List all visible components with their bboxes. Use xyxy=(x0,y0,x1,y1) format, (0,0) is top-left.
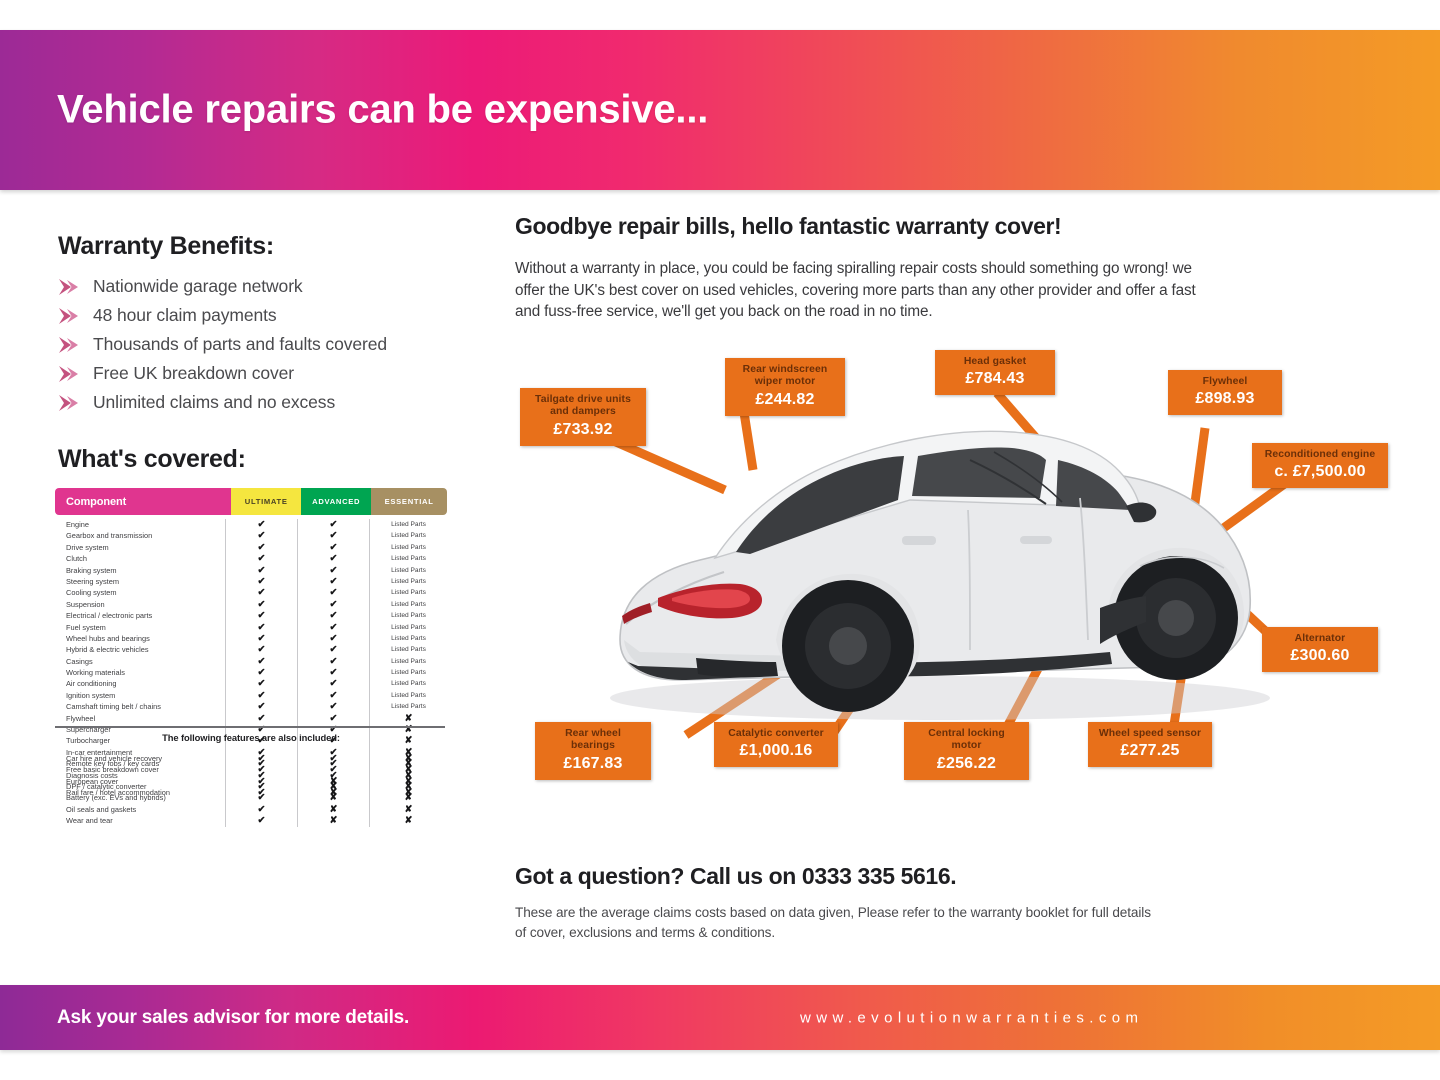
listed-parts-label: Listed Parts xyxy=(370,667,447,678)
warranty-benefits-title: Warranty Benefits: xyxy=(58,232,274,261)
table-row-label: Wear and tear xyxy=(66,815,225,826)
footer-website[interactable]: www.evolutionwarranties.com xyxy=(800,1009,1143,1026)
callout-tailgate-drive-units: Tailgate drive units and dampers £733.92 xyxy=(520,388,646,446)
check-icon: ✔ xyxy=(298,690,369,701)
callout-label: Head gasket xyxy=(945,356,1045,368)
listed-parts-label: Listed Parts xyxy=(370,656,447,667)
check-icon: ✔ xyxy=(298,753,369,764)
callout-rear-wheel-bearings: Rear wheel bearings £167.83 xyxy=(535,722,651,780)
check-icon: ✔ xyxy=(226,701,297,712)
check-icon: ✔ xyxy=(298,764,369,775)
benefit-item: 48 hour claim payments xyxy=(58,301,387,330)
listed-parts-label: Listed Parts xyxy=(370,610,447,621)
callout-flywheel: Flywheel £898.93 xyxy=(1168,370,1282,415)
benefit-item: Free UK breakdown cover xyxy=(58,359,387,388)
benefit-item: Unlimited claims and no excess xyxy=(58,388,387,417)
table-row-label: Drive system xyxy=(66,542,225,553)
listed-parts-label: Listed Parts xyxy=(370,678,447,689)
call-us-heading: Got a question? Call us on 0333 335 5616… xyxy=(515,863,956,890)
check-icon: ✔ xyxy=(298,713,369,724)
callout-price: c. £7,500.00 xyxy=(1262,462,1378,481)
listed-parts-label: Listed Parts xyxy=(370,565,447,576)
check-icon: ✔ xyxy=(226,713,297,724)
check-icon: ✔ xyxy=(226,542,297,553)
table-row-label: Free basic breakdown cover xyxy=(66,764,225,775)
table-row-label: Hybrid & electric vehicles xyxy=(66,644,225,655)
chevron-right-icon xyxy=(58,278,80,296)
table-row-label: Fuel system xyxy=(66,622,225,633)
listed-parts-label: Listed Parts xyxy=(370,587,447,598)
cross-icon: ✘ xyxy=(370,815,447,826)
table-row-label: Suspension xyxy=(66,599,225,610)
chevron-right-icon xyxy=(58,336,80,354)
table-row-label: Ignition system xyxy=(66,690,225,701)
callout-label: Tailgate drive units and dampers xyxy=(530,394,636,419)
listed-parts-label: Listed Parts xyxy=(370,622,447,633)
cross-icon: ✘ xyxy=(370,787,447,798)
disclaimer-text: These are the average claims costs based… xyxy=(515,903,1155,942)
check-icon: ✔ xyxy=(298,530,369,541)
cross-icon: ✘ xyxy=(370,753,447,764)
table-row-label: Rail fare / hotel accommodation xyxy=(66,787,225,798)
check-icon: ✔ xyxy=(226,610,297,621)
callout-reconditioned-engine: Reconditioned engine c. £7,500.00 xyxy=(1252,443,1388,488)
cross-icon: ✘ xyxy=(370,713,447,724)
check-icon: ✔ xyxy=(226,587,297,598)
extra-column-ultimate: ✔✔✔✔ xyxy=(225,752,297,814)
table-divider xyxy=(55,726,445,728)
table-row-label: Clutch xyxy=(66,553,225,564)
check-icon: ✔ xyxy=(226,576,297,587)
extra-column-advanced: ✔✔✘✘ xyxy=(297,752,369,814)
check-icon: ✔ xyxy=(298,644,369,655)
callout-label: Catalytic converter xyxy=(724,728,828,740)
cross-icon: ✘ xyxy=(298,776,369,787)
benefit-label: 48 hour claim payments xyxy=(93,305,277,326)
benefit-label: Thousands of parts and faults covered xyxy=(93,334,387,355)
benefit-item: Thousands of parts and faults covered xyxy=(58,330,387,359)
poster-page: Vehicle repairs can be expensive... Warr… xyxy=(0,0,1440,1080)
car-illustration xyxy=(610,431,1270,720)
listed-parts-label: Listed Parts xyxy=(370,599,447,610)
check-icon: ✔ xyxy=(226,776,297,787)
top-gradient-banner: Vehicle repairs can be expensive... xyxy=(0,30,1440,190)
table-header-component: Component xyxy=(55,488,231,515)
table-header-ultimate: ULTIMATE xyxy=(231,488,301,515)
table-row-label: Camshaft timing belt / chains xyxy=(66,701,225,712)
car-diagram: Tailgate drive units and dampers £733.92… xyxy=(500,340,1440,860)
callout-label: Flywheel xyxy=(1178,376,1272,388)
callout-price: £300.60 xyxy=(1272,646,1368,665)
listed-parts-label: Listed Parts xyxy=(370,633,447,644)
benefit-label: Unlimited claims and no excess xyxy=(93,392,335,413)
also-included-title: The following features are also included… xyxy=(55,732,447,743)
callout-label: Wheel speed sensor xyxy=(1098,728,1202,740)
callout-price: £256.22 xyxy=(914,754,1019,773)
whats-covered-title: What's covered: xyxy=(58,445,246,474)
listed-parts-label: Listed Parts xyxy=(370,530,447,541)
right-heading: Goodbye repair bills, hello fantastic wa… xyxy=(515,213,1061,240)
check-icon: ✔ xyxy=(226,553,297,564)
check-icon: ✔ xyxy=(226,622,297,633)
chevron-right-icon xyxy=(58,394,80,412)
listed-parts-label: Listed Parts xyxy=(370,519,447,530)
cross-icon: ✘ xyxy=(370,764,447,775)
check-icon: ✔ xyxy=(298,656,369,667)
listed-parts-label: Listed Parts xyxy=(370,553,447,564)
table-row-label: Casings xyxy=(66,656,225,667)
callout-head-gasket: Head gasket £784.43 xyxy=(935,350,1055,395)
benefit-item: Nationwide garage network xyxy=(58,272,387,301)
table-row-label: Flywheel xyxy=(66,713,225,724)
callout-label: Rear wheel bearings xyxy=(545,728,641,753)
check-icon: ✔ xyxy=(298,542,369,553)
listed-parts-label: Listed Parts xyxy=(370,542,447,553)
check-icon: ✔ xyxy=(226,565,297,576)
right-body-text: Without a warranty in place, you could b… xyxy=(515,258,1205,323)
callout-alternator: Alternator £300.60 xyxy=(1262,627,1378,672)
callout-price: £1,000.16 xyxy=(724,741,828,760)
table-row-label: Wheel hubs and bearings xyxy=(66,633,225,644)
table-row-label: Gearbox and transmission xyxy=(66,530,225,541)
callout-price: £898.93 xyxy=(1178,389,1272,408)
callout-price: £784.43 xyxy=(945,369,1045,388)
callout-wheel-speed-sensor: Wheel speed sensor £277.25 xyxy=(1088,722,1212,767)
check-icon: ✔ xyxy=(226,633,297,644)
check-icon: ✔ xyxy=(226,667,297,678)
warranty-benefits-list: Nationwide garage network48 hour claim p… xyxy=(58,272,387,417)
cross-icon: ✘ xyxy=(370,776,447,787)
check-icon: ✔ xyxy=(226,764,297,775)
right-column: Goodbye repair bills, hello fantastic wa… xyxy=(500,190,1440,980)
check-icon: ✔ xyxy=(226,690,297,701)
table-row-label: European cover xyxy=(66,776,225,787)
benefit-label: Nationwide garage network xyxy=(93,276,303,297)
callout-price: £733.92 xyxy=(530,420,636,439)
callout-rear-windscreen-wiper-motor: Rear windscreen wiper motor £244.82 xyxy=(725,358,845,416)
check-icon: ✔ xyxy=(298,565,369,576)
callout-central-locking-motor: Central locking motor £256.22 xyxy=(904,722,1029,780)
table-row-label: Electrical / electronic parts xyxy=(66,610,225,621)
listed-parts-label: Listed Parts xyxy=(370,644,447,655)
table-row-label: Working materials xyxy=(66,667,225,678)
check-icon: ✔ xyxy=(298,587,369,598)
listed-parts-label: Listed Parts xyxy=(370,690,447,701)
check-icon: ✔ xyxy=(298,553,369,564)
cross-icon: ✘ xyxy=(298,787,369,798)
left-column: Warranty Benefits: Nationwide garage net… xyxy=(0,190,500,980)
cross-icon: ✘ xyxy=(298,815,369,826)
check-icon: ✔ xyxy=(226,530,297,541)
check-icon: ✔ xyxy=(226,656,297,667)
check-icon: ✔ xyxy=(298,667,369,678)
chevron-right-icon xyxy=(58,365,80,383)
benefit-label: Free UK breakdown cover xyxy=(93,363,294,384)
check-icon: ✔ xyxy=(298,610,369,621)
table-row-label: Car hire and vehicle recovery xyxy=(66,753,225,764)
check-icon: ✔ xyxy=(226,644,297,655)
callout-label: Alternator xyxy=(1272,633,1368,645)
table-row-label: Engine xyxy=(66,519,225,530)
check-icon: ✔ xyxy=(226,599,297,610)
callout-price: £244.82 xyxy=(735,390,835,409)
extra-column-component: Car hire and vehicle recoveryFree basic … xyxy=(55,752,225,814)
page-title: Vehicle repairs can be expensive... xyxy=(57,88,708,133)
check-icon: ✔ xyxy=(298,633,369,644)
check-icon: ✔ xyxy=(226,787,297,798)
listed-parts-label: Listed Parts xyxy=(370,701,447,712)
callout-label: Reconditioned engine xyxy=(1262,449,1378,461)
check-icon: ✔ xyxy=(226,815,297,826)
check-icon: ✔ xyxy=(298,622,369,633)
table-header-essential: ESSENTIAL xyxy=(371,488,447,515)
extra-column-essential: ✘✘✘✘ xyxy=(369,752,447,814)
table-row-label: Braking system xyxy=(66,565,225,576)
table-header-row: Component ULTIMATE ADVANCED ESSENTIAL xyxy=(55,488,447,515)
check-icon: ✔ xyxy=(298,576,369,587)
table-header-advanced: ADVANCED xyxy=(301,488,371,515)
check-icon: ✔ xyxy=(226,753,297,764)
footer-advisor-text: Ask your sales advisor for more details. xyxy=(57,1007,409,1029)
check-icon: ✔ xyxy=(226,678,297,689)
check-icon: ✔ xyxy=(298,678,369,689)
table-row-label: Cooling system xyxy=(66,587,225,598)
callout-price: £277.25 xyxy=(1098,741,1202,760)
table-row-label: Steering system xyxy=(66,576,225,587)
callout-catalytic-converter: Catalytic converter £1,000.16 xyxy=(714,722,838,767)
check-icon: ✔ xyxy=(298,519,369,530)
callout-label: Rear windscreen wiper motor xyxy=(735,364,835,389)
callout-price: £167.83 xyxy=(545,754,641,773)
callout-label: Central locking motor xyxy=(914,728,1019,753)
chevron-right-icon xyxy=(58,307,80,325)
footer-bar: Ask your sales advisor for more details.… xyxy=(0,985,1440,1050)
table-row-label: Air conditioning xyxy=(66,678,225,689)
listed-parts-label: Listed Parts xyxy=(370,576,447,587)
check-icon: ✔ xyxy=(226,519,297,530)
check-icon: ✔ xyxy=(298,701,369,712)
extra-features-table: Car hire and vehicle recoveryFree basic … xyxy=(55,752,447,814)
check-icon: ✔ xyxy=(298,599,369,610)
